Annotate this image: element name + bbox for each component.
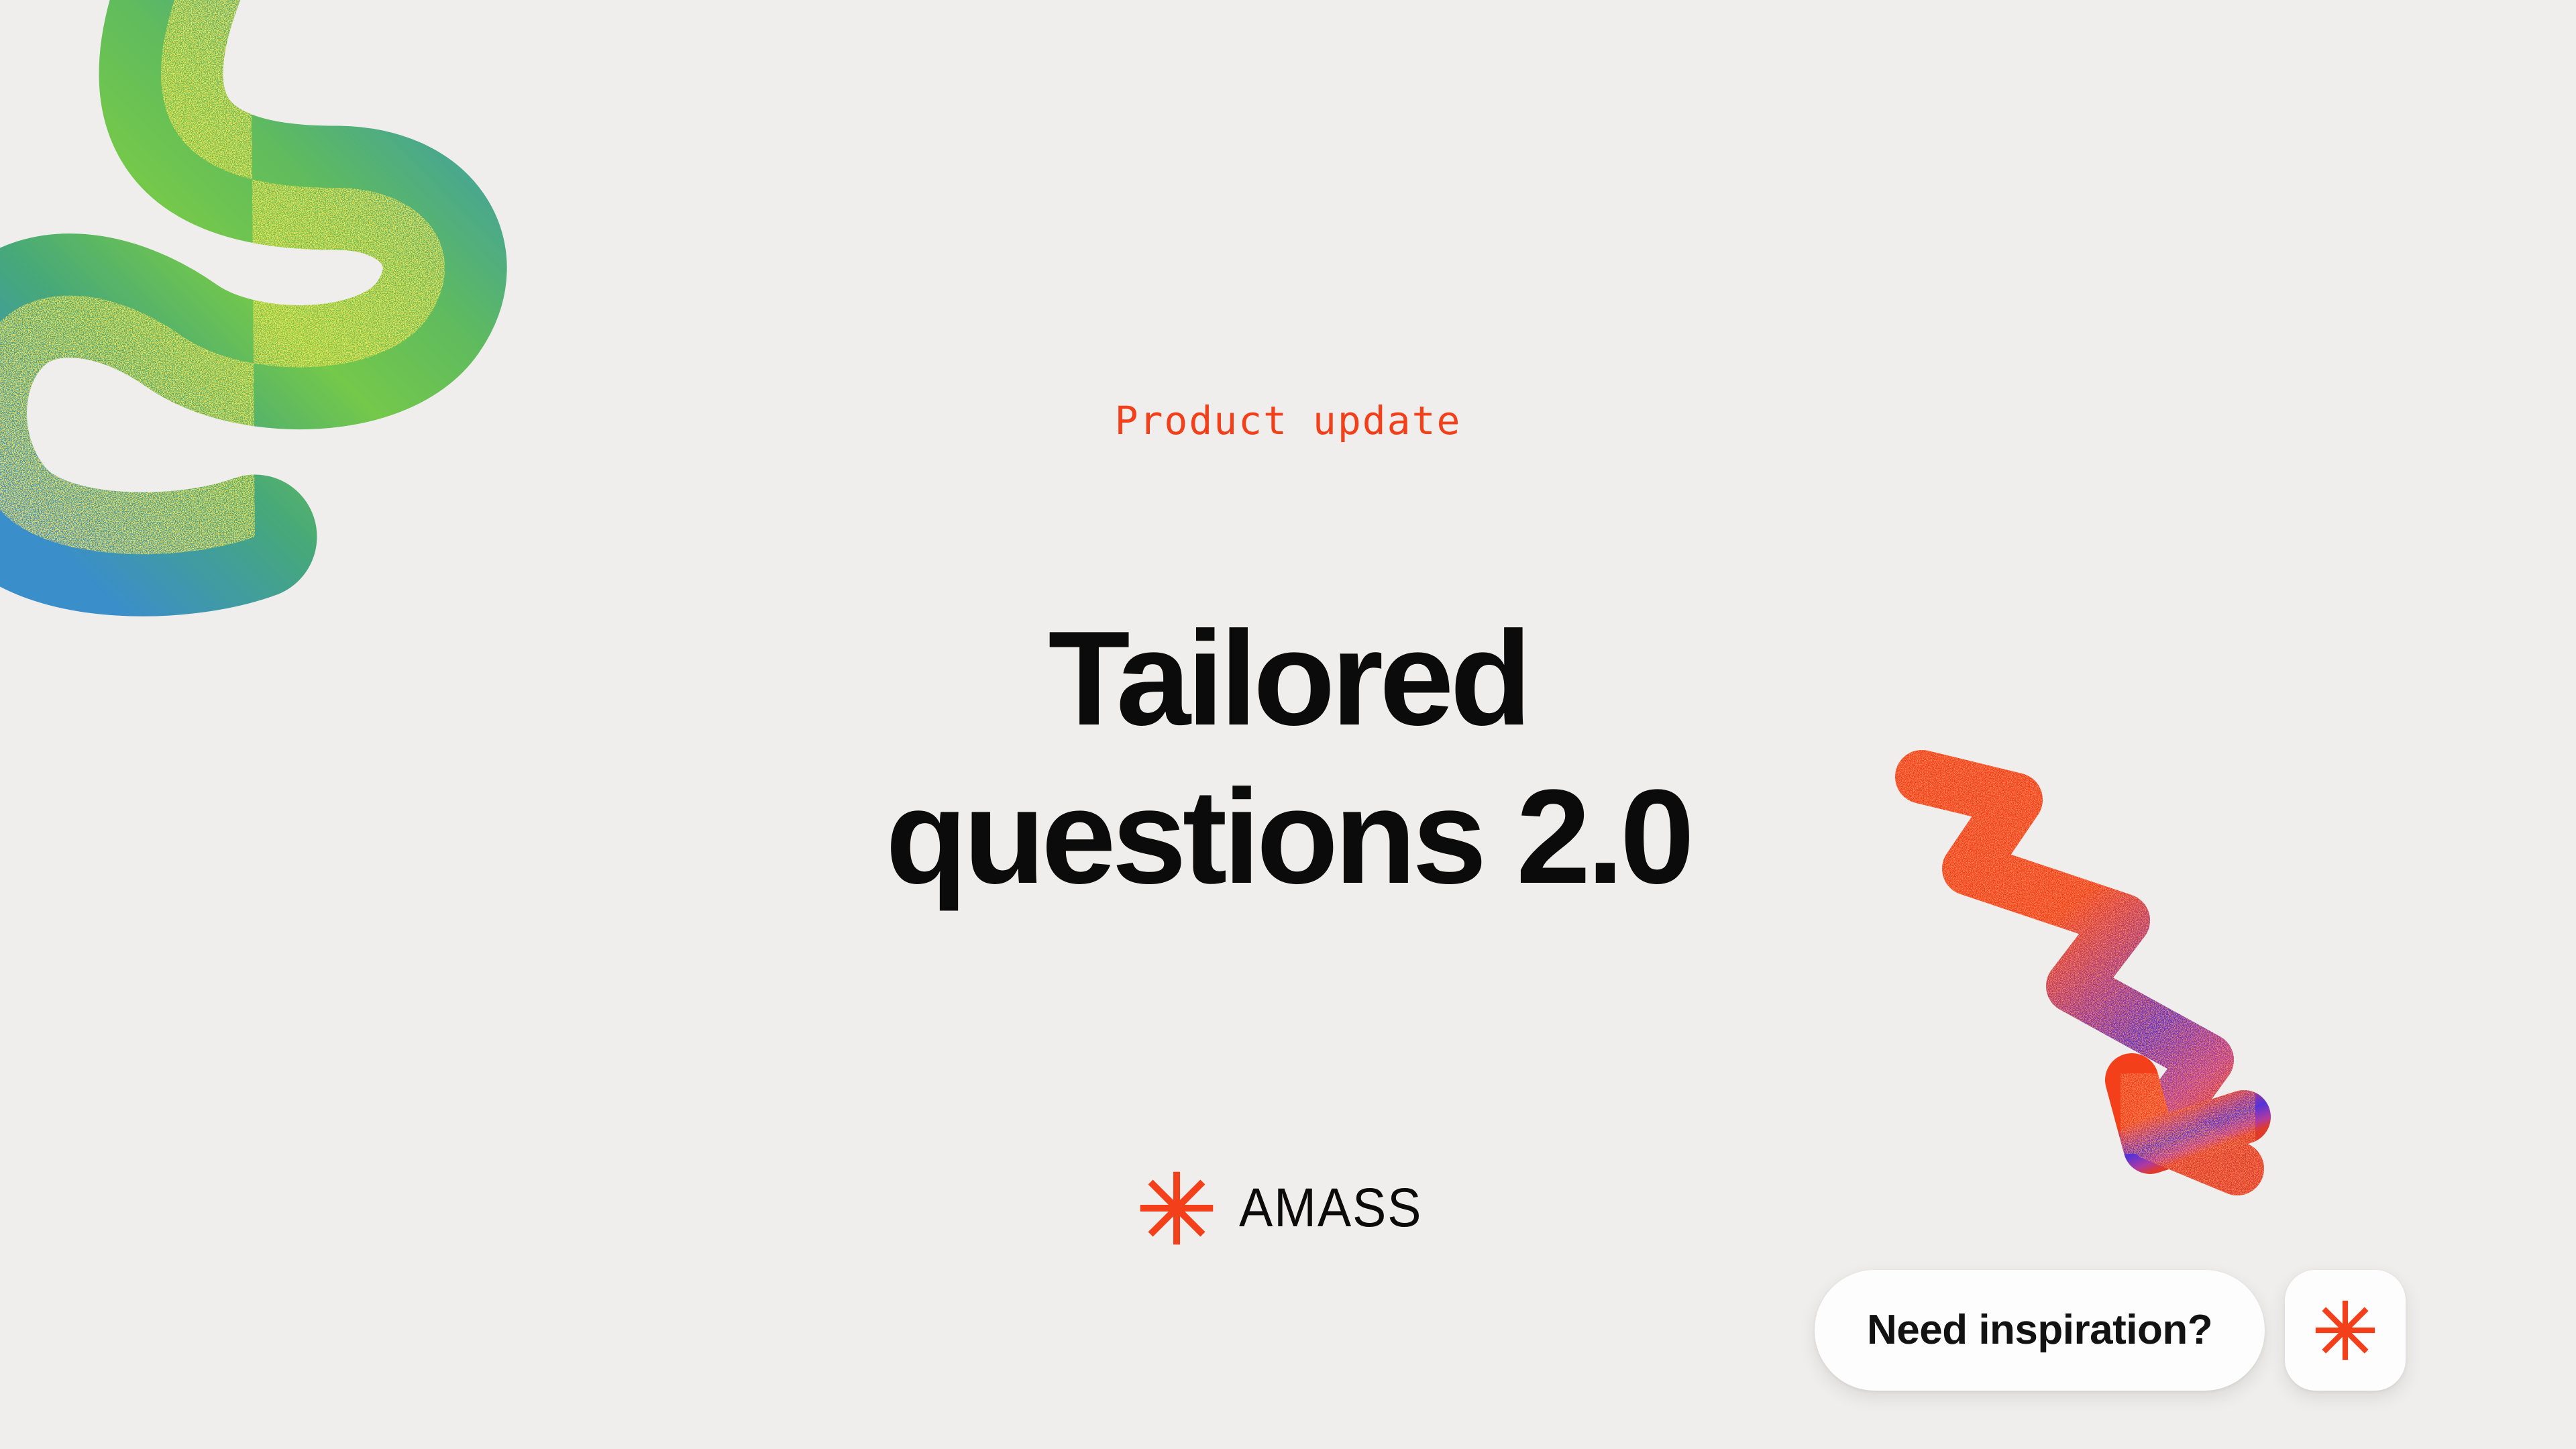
page-title: Tailored questions 2.0 xyxy=(0,600,2576,916)
assistant-button[interactable] xyxy=(2285,1270,2406,1391)
need-inspiration-label: Need inspiration? xyxy=(1867,1309,2212,1351)
asterisk-icon xyxy=(2313,1298,2377,1362)
canvas: Product update Tailored questions 2.0 AM… xyxy=(0,0,2576,1449)
brand-name: AMASS xyxy=(1239,1181,1422,1236)
headline-line-1: Tailored xyxy=(0,600,2576,758)
brand-lockup: AMASS xyxy=(0,1169,2576,1248)
eyebrow-label: Product update xyxy=(0,401,2576,440)
headline-line-2: questions 2.0 xyxy=(0,758,2576,916)
need-inspiration-button[interactable]: Need inspiration? xyxy=(1815,1270,2265,1391)
asterisk-icon xyxy=(1137,1169,1216,1248)
inspiration-widget: Need inspiration? xyxy=(1815,1270,2406,1391)
